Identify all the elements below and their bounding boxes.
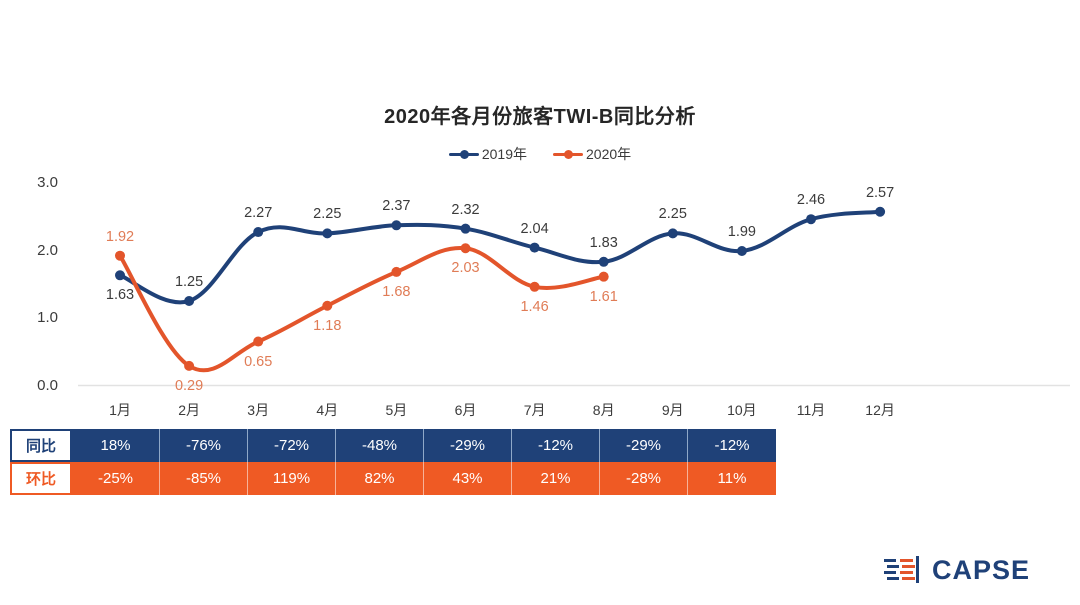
table-row-label: 同比 xyxy=(10,429,72,462)
x-axis-tick: 4月 xyxy=(292,400,362,420)
data-point xyxy=(322,301,332,311)
data-point xyxy=(530,243,540,253)
table-cell: -12% xyxy=(688,429,776,462)
data-point xyxy=(461,243,471,253)
table-cell: -85% xyxy=(160,462,248,495)
x-axis-tick: 9月 xyxy=(638,400,708,420)
data-point-label: 2.25 xyxy=(643,206,703,222)
data-point xyxy=(391,220,401,230)
data-point-label: 2.25 xyxy=(297,206,357,222)
data-point-label: 2.04 xyxy=(505,221,565,237)
data-point-label: 1.18 xyxy=(297,318,357,334)
chart-container: 2020年各月份旅客TWI-B同比分析 2019年 2020年 3.0 2.0 … xyxy=(0,0,1080,605)
data-point-label: 0.65 xyxy=(228,354,288,370)
x-axis-tick: 2月 xyxy=(154,400,224,420)
data-point-label: 1.25 xyxy=(159,274,219,290)
table-cell: 82% xyxy=(336,462,424,495)
table-cell: 43% xyxy=(424,462,512,495)
data-point xyxy=(184,296,194,306)
data-point-label: 2.27 xyxy=(228,205,288,221)
data-point-label: 1.61 xyxy=(574,289,634,305)
data-point xyxy=(184,361,194,371)
table-cell: 11% xyxy=(688,462,776,495)
logo-text: CAPSE xyxy=(932,557,1030,584)
data-point-label: 2.37 xyxy=(366,198,426,214)
x-axis-tick: 1月 xyxy=(85,400,155,420)
logo-mark-icon xyxy=(884,556,926,584)
data-point xyxy=(737,246,747,256)
table-row-label: 环比 xyxy=(10,462,72,495)
table-cell: -48% xyxy=(336,429,424,462)
data-point xyxy=(115,270,125,280)
data-point-label: 1.46 xyxy=(505,299,565,315)
data-point-label: 1.99 xyxy=(712,224,772,240)
data-point-label: 1.83 xyxy=(574,235,634,251)
data-point xyxy=(253,337,263,347)
table-cell: -28% xyxy=(600,462,688,495)
data-point-label: 1.68 xyxy=(366,284,426,300)
data-point xyxy=(599,257,609,267)
data-point xyxy=(530,282,540,292)
x-axis-tick: 5月 xyxy=(361,400,431,420)
data-point xyxy=(253,227,263,237)
data-point-label: 2.03 xyxy=(436,260,496,276)
data-point xyxy=(875,207,885,217)
data-point-label: 2.46 xyxy=(781,192,841,208)
data-point xyxy=(115,251,125,261)
x-axis-tick: 7月 xyxy=(500,400,570,420)
x-axis-tick: 12月 xyxy=(845,400,915,420)
table-cell: 18% xyxy=(72,429,160,462)
x-axis-tick: 6月 xyxy=(431,400,501,420)
table-cell: -29% xyxy=(600,429,688,462)
table-row: 环比-25%-85%119%82%43%21%-28%11% xyxy=(10,462,776,495)
table-cell: -72% xyxy=(248,429,336,462)
table-cell: 21% xyxy=(512,462,600,495)
table-cell: -25% xyxy=(72,462,160,495)
data-point-label: 1.63 xyxy=(90,287,150,303)
table-row: 同比18%-76%-72%-48%-29%-12%-29%-12% xyxy=(10,429,776,462)
data-point-label: 1.92 xyxy=(90,229,150,245)
x-axis-tick: 10月 xyxy=(707,400,777,420)
table-cell: -76% xyxy=(160,429,248,462)
data-point xyxy=(599,272,609,282)
capse-logo: CAPSE xyxy=(884,556,1030,584)
comparison-table: 同比18%-76%-72%-48%-29%-12%-29%-12%环比-25%-… xyxy=(10,429,776,495)
data-point xyxy=(391,267,401,277)
data-point xyxy=(668,228,678,238)
data-point-label: 2.32 xyxy=(436,202,496,218)
data-point xyxy=(461,224,471,234)
data-point xyxy=(322,228,332,238)
table-cell: -12% xyxy=(512,429,600,462)
data-point-label: 2.57 xyxy=(850,185,910,201)
x-axis-tick: 11月 xyxy=(776,400,846,420)
table-cell: 119% xyxy=(248,462,336,495)
table-cell: -29% xyxy=(424,429,512,462)
x-axis-tick: 3月 xyxy=(223,400,293,420)
data-point xyxy=(806,214,816,224)
data-point-label: 0.29 xyxy=(159,378,219,394)
x-axis-tick: 8月 xyxy=(569,400,639,420)
